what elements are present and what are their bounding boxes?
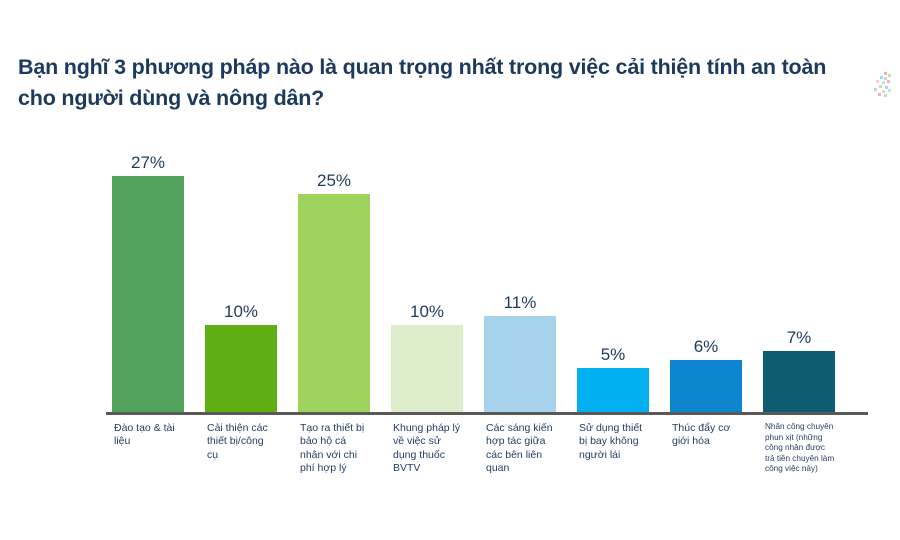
category-label: Nhân công chuyên phun xịt (những công nh… [763,422,835,475]
category-label: Cải thiện các thiết bị/công cụ [205,422,277,462]
mosaic-cell [882,90,885,93]
axis-baseline [106,412,868,415]
bar-slot: 11% [484,150,556,412]
mosaic-cell [876,80,879,83]
bar[interactable] [484,316,556,412]
bar-value-label: 27% [98,154,198,172]
plot-area: 27%10%25%10%11%5%6%7% [112,150,860,412]
bar-chart: 27%10%25%10%11%5%6%7% Đào tạo & tài liệu… [0,150,900,540]
category-label: Tạo ra thiết bị bảo hộ cá nhân với chi p… [298,422,370,476]
mosaic-cell [882,81,885,84]
category-label: Đào tạo & tài liệu [112,422,184,449]
mosaic-cell [880,76,883,79]
mosaic-cell [884,94,887,97]
mosaic-cell [888,74,891,77]
mosaic-cell [879,85,882,88]
bar-value-label: 5% [563,346,663,364]
bar-slot: 7% [763,150,835,412]
bar[interactable] [298,194,370,412]
bar-value-label: 25% [284,172,384,190]
bar-slot: 10% [205,150,277,412]
mosaic-cell [874,88,877,91]
mosaic-cell [888,89,891,92]
bar-slot: 27% [112,150,184,412]
bar[interactable] [763,351,835,412]
mosaic-logo-mark [870,72,892,98]
page-title: Bạn nghĩ 3 phương pháp nào là quan trọng… [18,52,838,114]
bar-value-label: 10% [191,303,291,321]
bar-slot: 5% [577,150,649,412]
mosaic-cell [884,72,887,75]
bar-slot: 25% [298,150,370,412]
bar[interactable] [391,325,463,412]
bar-slot: 10% [391,150,463,412]
category-label: Thúc đẩy cơ giới hóa [670,422,742,449]
bar[interactable] [205,325,277,412]
mosaic-cell [878,93,881,96]
bar[interactable] [670,360,742,412]
bar-value-label: 10% [377,303,477,321]
bar-value-label: 7% [749,329,849,347]
category-label: Các sáng kiến hợp tác giữa các bên liên … [484,422,556,476]
bar-value-label: 11% [470,294,570,312]
mosaic-cell [887,80,890,83]
bar-value-label: 6% [656,338,756,356]
category-label: Sử dụng thiết bị bay không người lái [577,422,649,462]
category-axis-labels: Đào tạo & tài liệuCải thiện các thiết bị… [112,422,860,540]
bar[interactable] [577,368,649,412]
bar-slot: 6% [670,150,742,412]
bar[interactable] [112,176,184,412]
category-label: Khung pháp lý về việc sử dụng thuốc BVTV [391,422,463,476]
